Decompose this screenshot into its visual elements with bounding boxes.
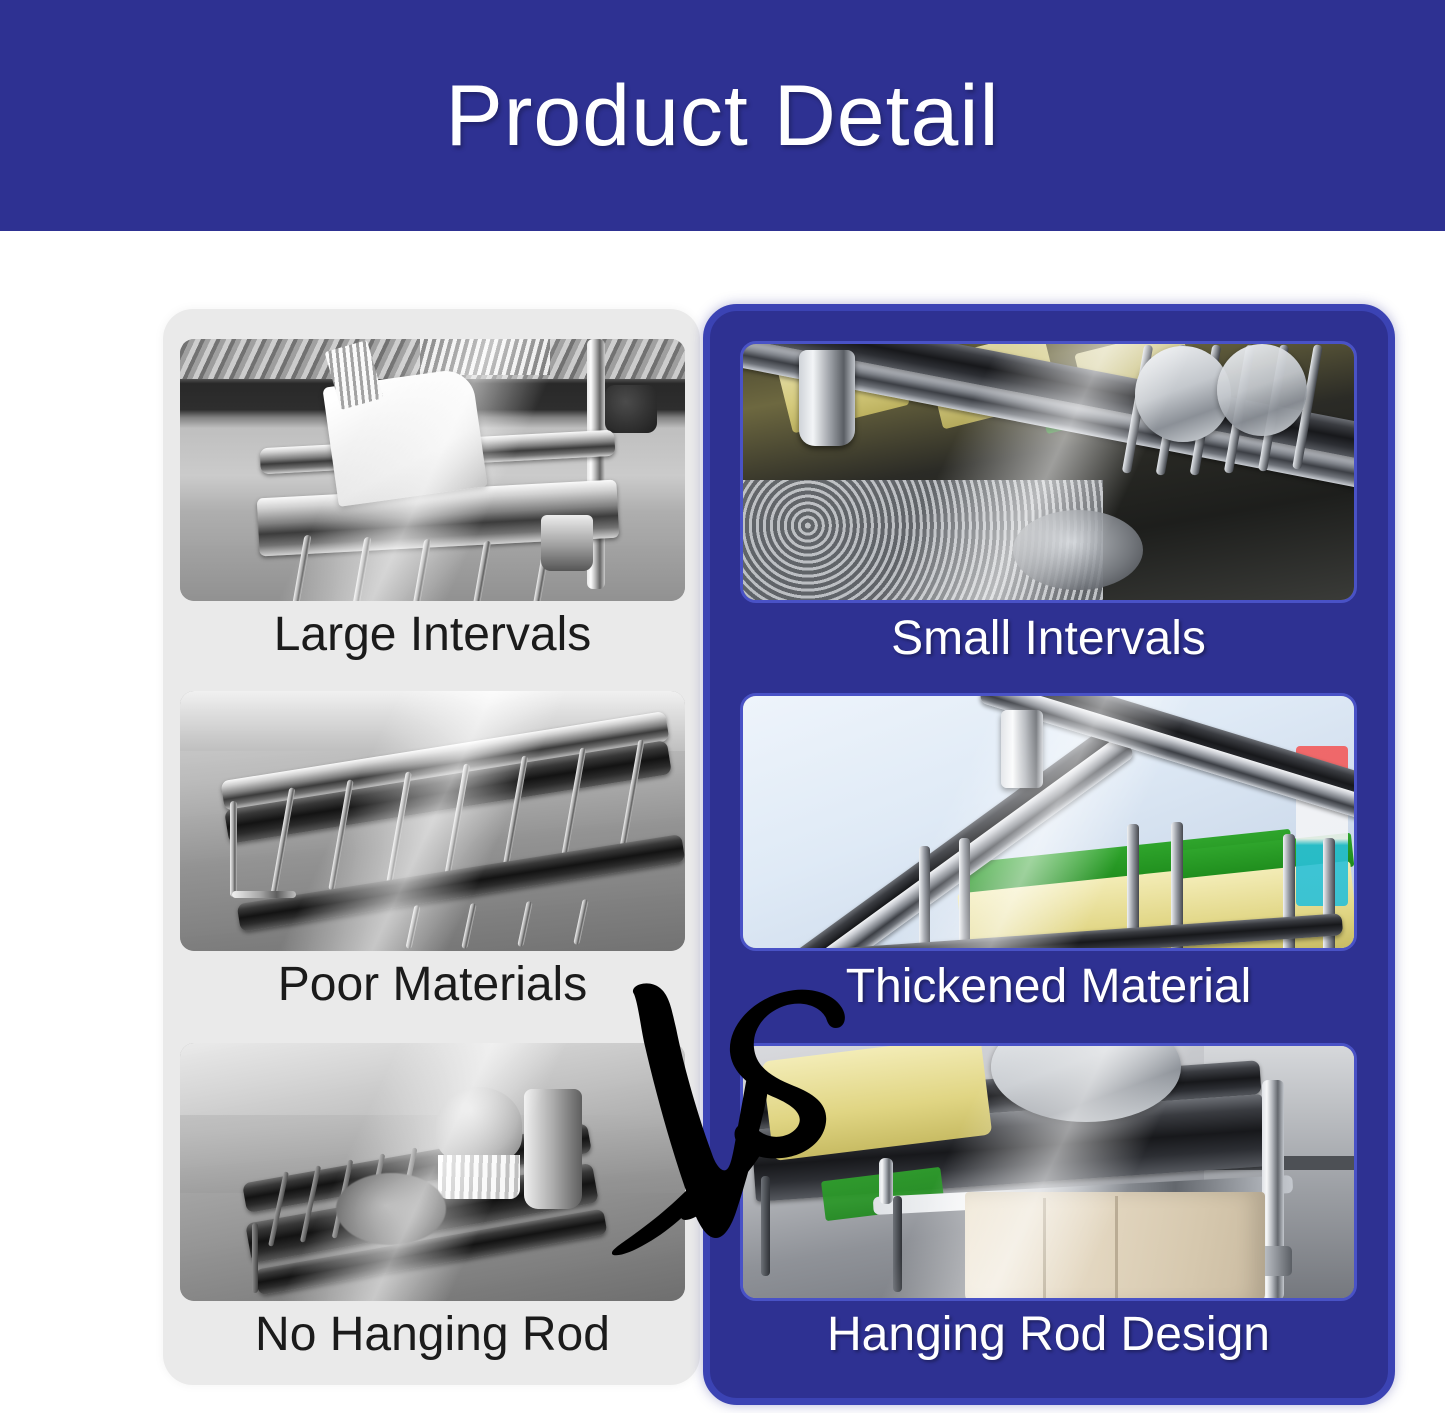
caption-thickened-material: Thickened Material [740,963,1357,1011]
caption-hanging-rod-design: Hanging Rod Design [740,1311,1357,1359]
photo-small-intervals [740,341,1357,603]
page-header-banner: Product Detail [0,0,1445,231]
photo-poor-materials [180,691,685,951]
photo-no-hanging-rod [180,1043,685,1301]
photo-thickened-material [740,693,1357,951]
page-title: Product Detail [445,73,999,159]
comparison-section: Large Intervals [0,231,1445,1413]
caption-large-intervals: Large Intervals [180,611,685,659]
caption-no-hanging-rod: No Hanging Rod [180,1311,685,1359]
photo-large-intervals [180,339,685,601]
photo-hanging-rod-design [740,1043,1357,1301]
caption-poor-materials: Poor Materials [180,961,685,1009]
caption-small-intervals: Small Intervals [740,615,1357,663]
